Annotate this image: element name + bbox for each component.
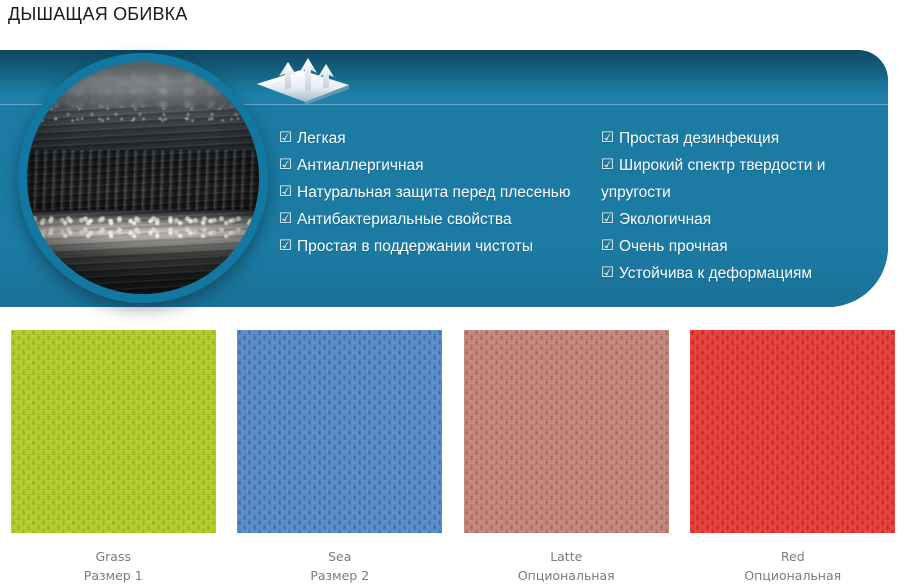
feature-item: ☑Легкая [279, 125, 579, 152]
feature-item: ☑Простая в поддержании чистоты [279, 233, 579, 260]
feature-item: ☑Очень прочная [601, 233, 886, 260]
feature-label: Простая дезинфекция [619, 130, 779, 147]
swatch-name: Grass [95, 547, 131, 566]
swatch-image[interactable] [690, 330, 895, 533]
checkbox-icon: ☑ [279, 233, 292, 260]
feature-label: Очень прочная [619, 238, 728, 255]
spacer-mesh-fabric-photo [27, 62, 259, 294]
swatch-size: Размер 1 [84, 566, 143, 585]
fabric-photo-vignette [27, 62, 259, 294]
swatch-size: Опциональная [744, 566, 841, 585]
swatch-image[interactable] [464, 330, 669, 533]
checkbox-icon: ☑ [601, 206, 614, 233]
checkbox-icon: ☑ [601, 260, 614, 287]
feature-label: Антибактериальные свойства [297, 211, 512, 228]
swatch-name: Latte [550, 547, 582, 566]
feature-label: Легкая [297, 130, 346, 147]
checkbox-icon: ☑ [601, 125, 614, 152]
swatch-texture [11, 330, 216, 533]
swatch-texture [464, 330, 669, 533]
swatch-name: Sea [328, 547, 351, 566]
swatch-size: Размер 2 [310, 566, 369, 585]
swatch-texture [237, 330, 442, 533]
checkbox-icon: ☑ [279, 152, 292, 179]
fabric-swatch-latte[interactable]: Latte Опциональная [453, 330, 680, 585]
feature-label: Антиаллергичная [297, 157, 424, 174]
feature-list-left: ☑Легкая ☑Антиаллергичная ☑Натуральная за… [279, 125, 579, 287]
checkbox-icon: ☑ [279, 206, 292, 233]
feature-label: Простая в поддержании чистоты [297, 238, 533, 255]
feature-item: ☑Антибактериальные свойства [279, 206, 579, 233]
checkbox-icon: ☑ [279, 179, 292, 206]
feature-list-right: ☑Простая дезинфекция ☑Широкий спектр тве… [601, 125, 886, 287]
feature-item: ☑Натуральная защита перед плесенью [279, 179, 579, 206]
fabric-photo-circle [18, 53, 268, 303]
swatch-image[interactable] [237, 330, 442, 533]
feature-label: Натуральная защита перед плесенью [297, 184, 571, 201]
swatch-image[interactable] [11, 330, 216, 533]
swatch-size: Опциональная [518, 566, 615, 585]
feature-item: ☑Антиаллергичная [279, 152, 579, 179]
fabric-swatch-sea[interactable]: Sea Размер 2 [227, 330, 454, 585]
feature-item: ☑Экологичная [601, 206, 886, 233]
fabric-swatch-red[interactable]: Red Опциональная [680, 330, 906, 585]
feature-lists: ☑Легкая ☑Антиаллергичная ☑Натуральная за… [279, 125, 888, 287]
swatch-texture [690, 330, 895, 533]
feature-item: ☑Широкий спектр твердости и упругости [601, 152, 886, 206]
feature-label: Устойчива к деформациям [619, 265, 812, 282]
mountain-platform-logo-icon [255, 58, 351, 106]
swatch-name: Red [781, 547, 805, 566]
feature-item: ☑Устойчива к деформациям [601, 260, 886, 287]
checkbox-icon: ☑ [601, 233, 614, 260]
fabric-swatch-row: Grass Размер 1 Sea Размер 2 Latte Опцион… [0, 330, 906, 585]
feature-item: ☑Простая дезинфекция [601, 125, 886, 152]
checkbox-icon: ☑ [279, 125, 292, 152]
feature-label: Широкий спектр твердости и упругости [601, 157, 825, 201]
page-title: ДЫШАЩАЯ ОБИВКА [8, 2, 188, 26]
fabric-swatch-grass[interactable]: Grass Размер 1 [0, 330, 227, 585]
banner-title: ДЫЩАЩАЯ ОБИВКА [372, 8, 683, 48]
checkbox-icon: ☑ [601, 152, 614, 179]
feature-label: Экологичная [619, 211, 711, 228]
